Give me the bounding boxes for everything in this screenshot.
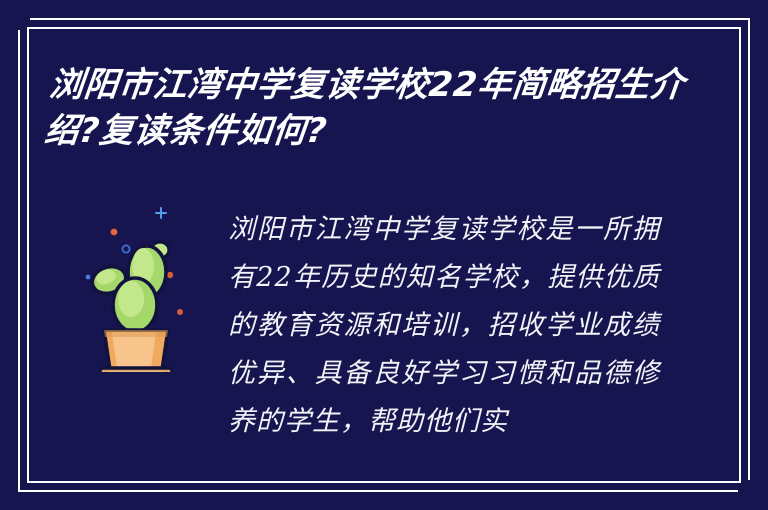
sparkle-ring-blue xyxy=(122,245,129,252)
sparkle-dot-orange-lower-right xyxy=(177,309,183,315)
pot-body-highlight xyxy=(112,332,156,368)
frame-notch-bottom-right-vertical xyxy=(738,486,768,510)
body-paragraph: 浏阳市江湾中学复读学校是一所拥有22年历史的知名学校，提供优质的教育资源和培训，… xyxy=(228,206,660,446)
pot-rim-shadow xyxy=(104,330,168,337)
sparkle-cross-blue xyxy=(156,208,166,218)
sparkle-dot-blue-left xyxy=(86,275,91,280)
frame-notch-top-left-vertical xyxy=(0,0,30,24)
frame-notch-top-left-horizontal xyxy=(0,0,24,30)
frame-notch-bottom-right-horizontal xyxy=(744,480,768,510)
potted-cactus-illustration xyxy=(62,192,212,372)
pot-base-highlight xyxy=(106,371,164,372)
sparkle-dot-orange-upper xyxy=(111,229,118,236)
page-title: 浏阳市江湾中学复读学校22年简略招生介绍?复读条件如何? xyxy=(42,62,692,154)
poster-canvas: 浏阳市江湾中学复读学校22年简略招生介绍?复读条件如何? xyxy=(0,0,768,510)
cactus-pad-main-highlight xyxy=(118,281,144,317)
